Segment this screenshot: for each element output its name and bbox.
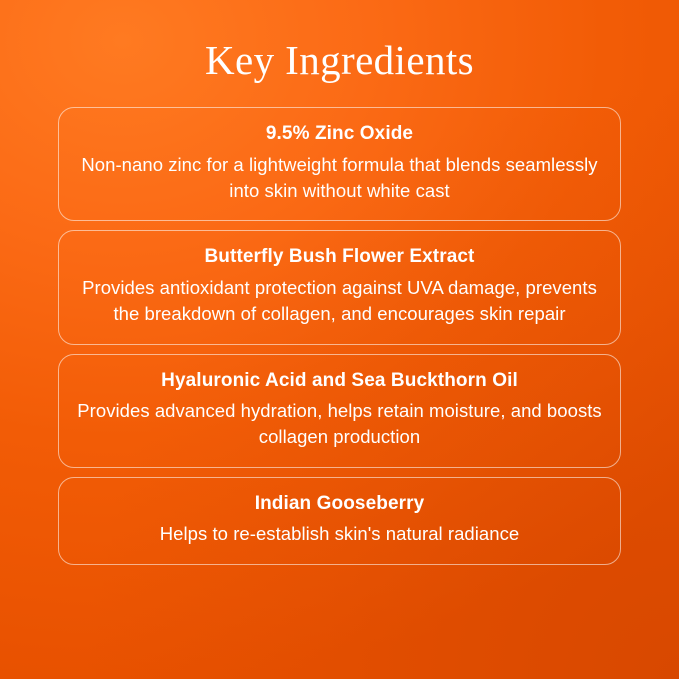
poster-content: Key Ingredients 9.5% Zinc Oxide Non-nano… bbox=[0, 0, 679, 565]
ingredient-card-body: Provides antioxidant protection against … bbox=[77, 275, 602, 328]
ingredient-card-body: Provides advanced hydration, helps retai… bbox=[77, 398, 602, 451]
ingredient-card-body: Non-nano zinc for a lightweight formula … bbox=[77, 152, 602, 205]
ingredient-card-hyaluronic-acid-sea-buckthorn-oil: Hyaluronic Acid and Sea Buckthorn Oil Pr… bbox=[58, 354, 621, 468]
ingredient-card-title: Butterfly Bush Flower Extract bbox=[77, 244, 602, 270]
ingredient-card-indian-gooseberry: Indian Gooseberry Helps to re-establish … bbox=[58, 477, 621, 565]
ingredient-card-title: Hyaluronic Acid and Sea Buckthorn Oil bbox=[77, 368, 602, 394]
ingredient-card-title: 9.5% Zinc Oxide bbox=[77, 121, 602, 147]
ingredient-card-title: Indian Gooseberry bbox=[77, 491, 602, 517]
ingredient-card-butterfly-bush-flower-extract: Butterfly Bush Flower Extract Provides a… bbox=[58, 230, 621, 344]
key-ingredients-poster: Key Ingredients 9.5% Zinc Oxide Non-nano… bbox=[0, 0, 679, 679]
ingredient-card-zinc-oxide: 9.5% Zinc Oxide Non-nano zinc for a ligh… bbox=[58, 107, 621, 221]
page-title: Key Ingredients bbox=[58, 0, 621, 85]
ingredient-card-body: Helps to re-establish skin's natural rad… bbox=[77, 521, 602, 547]
